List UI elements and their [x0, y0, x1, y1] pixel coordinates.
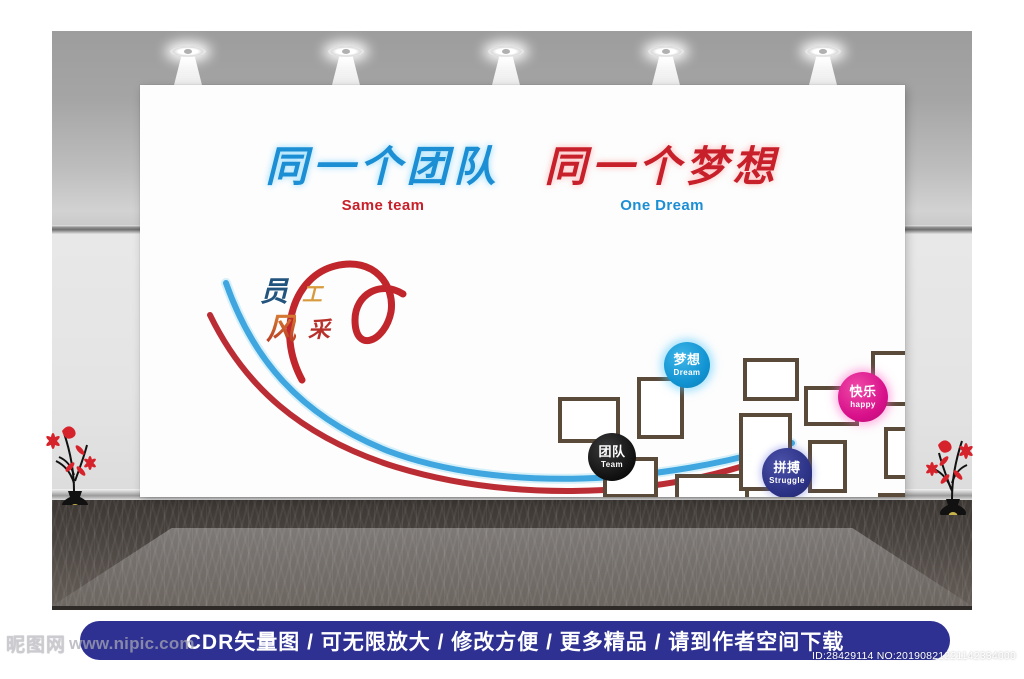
light-bulb-center-2	[342, 49, 350, 54]
top-white-margin	[0, 0, 1024, 31]
logo-char-cai: 采	[308, 312, 330, 344]
photo-frame[interactable]	[878, 493, 905, 497]
watermark-cn: 昵图网	[6, 630, 66, 657]
board-headline: 同一个团队 Same team 同一个梦想 One Dream	[140, 147, 905, 214]
watermark-url: www.nipic.com	[69, 634, 195, 654]
headline-left-en: Same team	[265, 197, 500, 214]
headline-left-group: 同一个团队 Same team	[265, 147, 500, 214]
floor-surface	[52, 500, 972, 610]
promo-banner-text: CDR矢量图 / 可无限放大 / 修改方便 / 更多精品 / 请到作者空间下载	[186, 626, 845, 656]
badge-team[interactable]: 团队Team	[588, 433, 636, 481]
light-bulb-center-3	[502, 49, 510, 54]
headline-right-en: One Dream	[545, 197, 780, 214]
badge-dream-cn-label: 梦想	[673, 353, 700, 366]
vase-with-flowers-left	[40, 405, 110, 505]
light-bulb-center-4	[662, 49, 670, 54]
badge-happy-en-label: happy	[850, 401, 876, 409]
image-id-line: ID:28429114 NO:20190821221142334000	[812, 650, 1016, 662]
room-scene: 同一个团队 Same team 同一个梦想 One Dream 员 工 风	[0, 0, 1024, 610]
badge-team-cn-label: 团队	[598, 445, 625, 458]
photo-frame[interactable]	[808, 440, 847, 493]
photo-frame[interactable]	[743, 358, 799, 401]
culture-wall-board: 同一个团队 Same team 同一个梦想 One Dream 员 工 风	[140, 85, 905, 497]
photo-frame[interactable]	[884, 427, 905, 479]
logo-char-gong: 工	[302, 278, 322, 307]
badge-dream[interactable]: 梦想Dream	[664, 342, 710, 388]
left-white-margin	[0, 0, 52, 610]
headline-right-group: 同一个梦想 One Dream	[545, 147, 780, 214]
badge-struggle-cn-label: 拼搏	[773, 461, 800, 474]
floor-light-reflection	[52, 528, 972, 606]
right-white-margin	[972, 0, 1024, 610]
light-bulb-center-1	[184, 49, 192, 54]
badge-dream-en-label: Dream	[674, 369, 701, 377]
light-bulb-center-5	[819, 49, 827, 54]
badge-team-en-label: Team	[601, 461, 623, 469]
vase-with-flowers-right	[918, 415, 988, 515]
headline-left-cn: 同一个团队	[265, 147, 500, 189]
badge-struggle-en-label: Struggle	[769, 477, 805, 485]
badge-happy-cn-label: 快乐	[849, 385, 876, 398]
employee-style-logo: 员 工 风 采	[260, 270, 380, 350]
watermark: 昵图网 www.nipic.com	[6, 630, 195, 657]
photo-frame[interactable]	[637, 377, 684, 439]
headline-right-cn: 同一个梦想	[545, 147, 780, 189]
photo-frame[interactable]	[675, 474, 749, 497]
badge-struggle[interactable]: 拼搏Struggle	[762, 448, 812, 497]
logo-char-feng: 风	[266, 304, 296, 348]
badge-happy[interactable]: 快乐happy	[838, 372, 888, 422]
